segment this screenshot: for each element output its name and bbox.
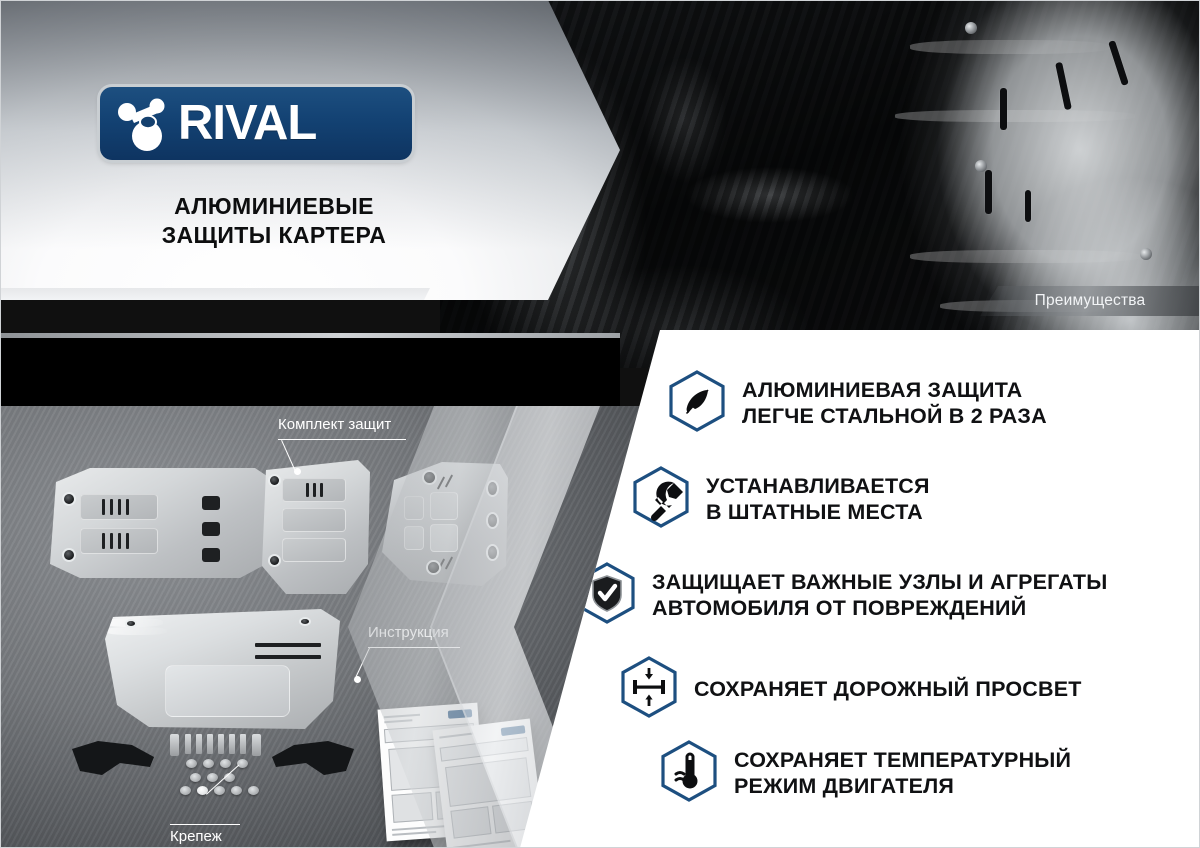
advantage-item-1-text: АЛЮМИНИЕВАЯ ЗАЩИТА ЛЕГЧЕ СТАЛЬНОЙ В 2 РА… bbox=[742, 378, 1047, 428]
skid-plate-left bbox=[50, 468, 270, 578]
advantage-item-1: АЛЮМИНИЕВАЯ ЗАЩИТА ЛЕГЧЕ СТАЛЬНОЙ В 2 РА… bbox=[668, 370, 1047, 437]
advantages-tab-label: Преимущества bbox=[1035, 292, 1146, 310]
skid-plate-middle bbox=[262, 460, 370, 594]
page-title-line1: АЛЮМИНИЕВЫЕ bbox=[0, 192, 548, 221]
advantage-item-2: УСТАНАВЛИВАЕТСЯ В ШТАТНЫЕ МЕСТА bbox=[632, 466, 930, 533]
advantage-item-3-text: ЗАЩИЩАЕТ ВАЖНЫЕ УЗЛЫ И АГРЕГАТЫ АВТОМОБИ… bbox=[652, 570, 1107, 620]
kit-callout-label: Комплект защит bbox=[278, 416, 391, 433]
mounting-bracket-right bbox=[272, 741, 354, 775]
manufacturer-ribbon: от производителя bbox=[0, 288, 430, 332]
ground-clearance-icon bbox=[620, 656, 678, 723]
rival-logo: RIVAL bbox=[100, 87, 412, 160]
page-title: АЛЮМИНИЕВЫЕ ЗАЩИТЫ КАРТЕРА bbox=[0, 192, 548, 250]
molecule-icon bbox=[114, 95, 176, 153]
kit-callout: Комплект защит bbox=[278, 416, 391, 433]
thermometer-icon bbox=[660, 740, 718, 807]
hardware-callout-label: Крепеж bbox=[170, 828, 222, 845]
skid-plate-large bbox=[105, 609, 340, 729]
advantage-item-3: ЗАЩИЩАЕТ ВАЖНЫЕ УЗЛЫ И АГРЕГАТЫ АВТОМОБИ… bbox=[578, 562, 1107, 629]
advantages-tab: Преимущества bbox=[980, 286, 1200, 316]
header-panel: RIVAL АЛЮМИНИЕВЫЕ ЗАЩИТЫ КАРТЕРА от прои… bbox=[0, 0, 620, 346]
advantage-item-5-text: СОХРАНЯЕТ ТЕМПЕРАТУРНЫЙ РЕЖИМ ДВИГАТЕЛЯ bbox=[734, 748, 1071, 798]
advantage-item-5: СОХРАНЯЕТ ТЕМПЕРАТУРНЫЙ РЕЖИМ ДВИГАТЕЛЯ bbox=[660, 740, 1071, 807]
page-title-line2: ЗАЩИТЫ КАРТЕРА bbox=[0, 221, 548, 250]
mounting-bracket-left bbox=[72, 741, 154, 775]
hardware-callout: Крепеж bbox=[170, 794, 222, 845]
advantage-item-2-text: УСТАНАВЛИВАЕТСЯ В ШТАТНЫЕ МЕСТА bbox=[706, 474, 930, 524]
logo-text: RIVAL bbox=[178, 99, 316, 148]
wrench-icon bbox=[632, 466, 690, 533]
advantage-item-4: СОХРАНЯЕТ ДОРОЖНЫЙ ПРОСВЕТ bbox=[620, 656, 1082, 723]
poster-root: RIVAL АЛЮМИНИЕВЫЕ ЗАЩИТЫ КАРТЕРА от прои… bbox=[0, 0, 1200, 848]
feather-icon bbox=[668, 370, 726, 437]
manufacturer-ribbon-label: от производителя bbox=[168, 301, 299, 319]
advantage-item-4-text: СОХРАНЯЕТ ДОРОЖНЫЙ ПРОСВЕТ bbox=[694, 677, 1082, 702]
